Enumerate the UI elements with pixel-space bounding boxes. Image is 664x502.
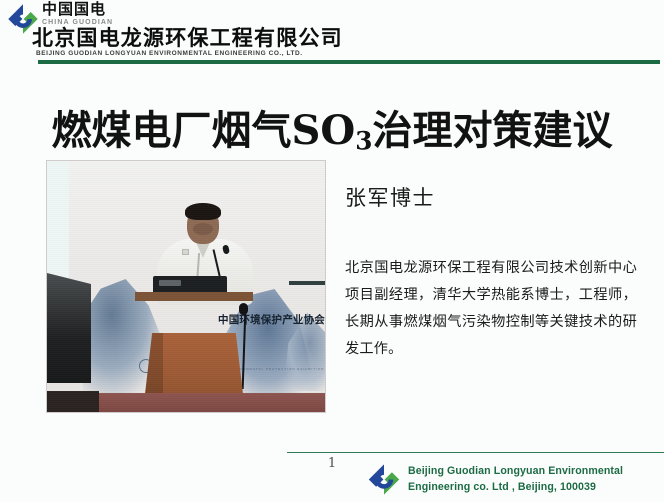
- photo-organization-caption: 中国环境保护产业协会: [218, 312, 325, 327]
- photo-laptop-screen: [159, 280, 181, 286]
- photo-speaker-hair: [185, 203, 221, 220]
- speaker-photo: 中国环境保护产业协会 第十五届中国国际环保展览会 CHINA INTERNATI…: [47, 161, 325, 412]
- company-name-cn: 北京国电龙源环保工程有限公司: [32, 27, 343, 50]
- footer-line-2: Engineering co. Ltd , Beijing, 100039: [408, 480, 623, 496]
- footer-divider: [287, 452, 664, 453]
- speaker-name: 张军博士: [345, 182, 435, 212]
- formula-subscript: 3: [355, 126, 372, 155]
- presentation-slide: 中国国电 CHINA GUODIAN 北京国电龙源环保工程有限公司 BEIJIN…: [0, 0, 664, 502]
- header-divider: [38, 60, 660, 64]
- page-title: 燃煤电厂烟气SO3治理对策建议: [0, 107, 664, 165]
- speaker-biography: 北京国电龙源环保工程有限公司技术创新中心项目副经理，清华大学热能系博士，工程师，…: [345, 255, 637, 363]
- title-chemical-formula: SO3: [292, 107, 373, 154]
- company-name-en: BEIJING GUODIAN LONGYUAN ENVIRONMENTAL E…: [36, 50, 303, 57]
- photo-dark-panel: [47, 273, 91, 383]
- photo-floor-dark-corner: [47, 391, 99, 412]
- brand-name-en: CHINA GUODIAN: [42, 19, 113, 26]
- slide-header: 中国国电 CHINA GUODIAN 北京国电龙源环保工程有限公司 BEIJIN…: [0, 0, 664, 66]
- footer-company-address: Beijing Guodian Longyuan Environmental E…: [408, 464, 623, 495]
- photo-speaker-badge: [182, 249, 189, 255]
- footer-line-1: Beijing Guodian Longyuan Environmental: [408, 464, 623, 480]
- title-part-1: 燃煤电厂烟气: [52, 108, 292, 154]
- title-part-2: 治理对策建议: [373, 108, 613, 154]
- formula-base: SO: [292, 107, 356, 154]
- photo-speaker-face-shadow: [193, 223, 213, 235]
- guodian-logo-icon: [366, 463, 402, 496]
- brand-name-cn: 中国国电: [42, 1, 106, 18]
- photo-wall-accent-bar: [289, 281, 325, 285]
- photo-podium-top: [135, 292, 253, 301]
- photo-projection-screen: [47, 161, 69, 279]
